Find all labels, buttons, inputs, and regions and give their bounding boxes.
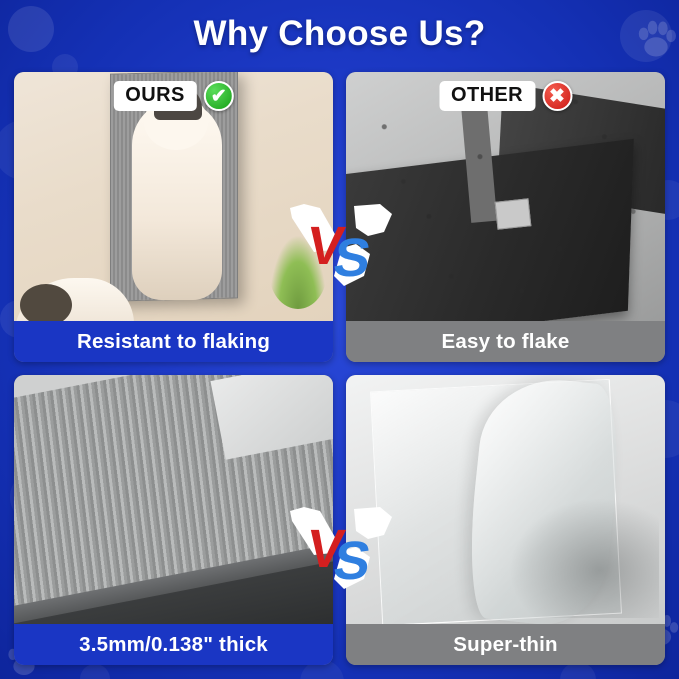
check-circle-icon: ✔ (204, 81, 234, 111)
vs-badge-top: V S (284, 202, 396, 294)
caption-resistant-to-flaking: Resistant to flaking (14, 321, 333, 362)
bubble-decor (80, 664, 110, 679)
badge-ours-label: OURS (113, 81, 196, 111)
vs-badge-bottom: V S (284, 505, 396, 597)
badge-ours: OURS ✔ (113, 81, 233, 111)
svg-text:S: S (329, 228, 373, 288)
cross-circle-icon: ✖ (542, 81, 572, 111)
page-title: Why Choose Us? (0, 14, 679, 54)
caption-super-thin: Super-thin (346, 624, 665, 665)
caption-thickness: 3.5mm/0.138" thick (14, 624, 333, 665)
badge-other-label: OTHER (439, 81, 535, 111)
comparison-grid: OURS ✔ Resistant to flaking OTHER ✖ Easy… (14, 72, 665, 665)
svg-text:S: S (329, 531, 373, 591)
badge-other: OTHER ✖ (439, 81, 572, 111)
caption-easy-to-flake: Easy to flake (346, 321, 665, 362)
